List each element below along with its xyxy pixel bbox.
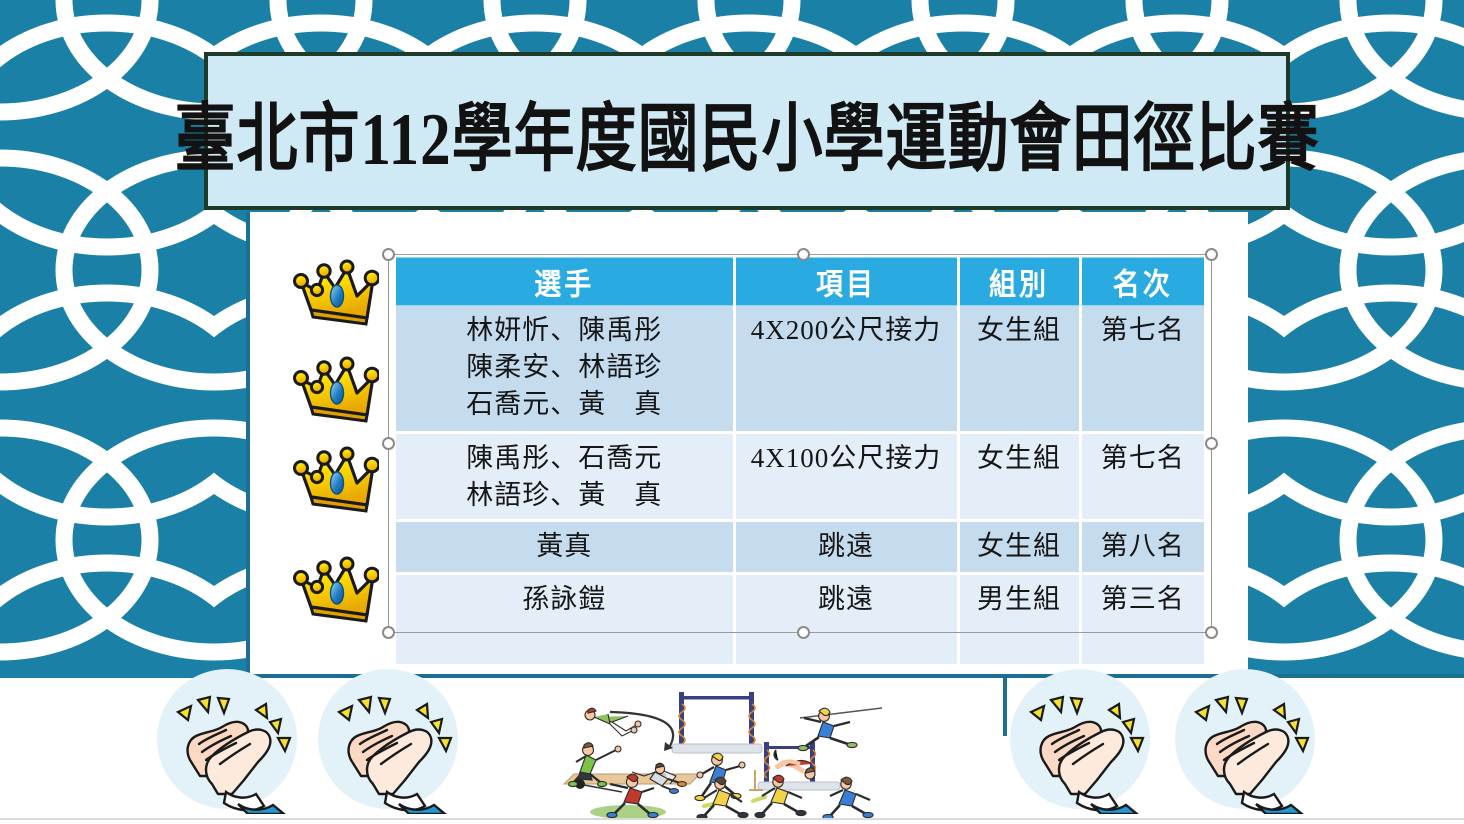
slide-canvas: 臺北市112學年度國民小學運動會田徑比賽 xyxy=(0,0,1464,824)
cell-rank[interactable]: 第七名 xyxy=(1080,432,1204,520)
page-title: 臺北市112學年度國民小學運動會田徑比賽 xyxy=(174,77,1319,186)
cell-event[interactable]: 4X200公尺接力 xyxy=(734,304,958,432)
athletics-clipart xyxy=(552,684,942,822)
resize-handle-bottom-left[interactable] xyxy=(382,626,395,639)
clapping-hands-icon xyxy=(1005,664,1155,814)
resize-handle-bottom-right[interactable] xyxy=(1205,626,1218,639)
column-header-rank[interactable]: 名次 xyxy=(1080,257,1204,306)
panel-left-rule xyxy=(246,212,250,677)
clapping-hands-icon xyxy=(1170,664,1320,814)
cell-athlete[interactable]: 孫詠鎧 xyxy=(396,573,734,664)
cell-group[interactable]: 女生組 xyxy=(958,432,1080,520)
cell-rank[interactable]: 第三名 xyxy=(1080,573,1204,664)
resize-handle-top-right[interactable] xyxy=(1205,248,1218,261)
cell-rank[interactable]: 第八名 xyxy=(1080,520,1204,573)
column-header-group[interactable]: 組別 xyxy=(958,257,1080,306)
crown-icon xyxy=(291,256,379,330)
crown-icon xyxy=(291,353,379,427)
crown-icon xyxy=(291,443,379,517)
cell-group[interactable]: 女生組 xyxy=(958,520,1080,573)
column-header-event[interactable]: 項目 xyxy=(734,257,958,306)
resize-handle-top-left[interactable] xyxy=(382,248,395,261)
table-row[interactable]: 陳禹彤、石喬元 林語珍、黃 真 4X100公尺接力 女生組 第七名 xyxy=(396,432,1204,520)
cell-athlete[interactable]: 黃真 xyxy=(396,520,734,573)
table-row[interactable]: 孫詠鎧 跳遠 男生組 第三名 xyxy=(396,573,1204,664)
resize-handle-top-center[interactable] xyxy=(797,248,810,261)
column-header-athlete[interactable]: 選手 xyxy=(396,257,734,306)
cell-athlete[interactable]: 林妍忻、陳禹彤 陳柔安、林語珍 石喬元、黃 真 xyxy=(396,304,734,432)
resize-handle-middle-left[interactable] xyxy=(382,437,395,450)
cell-event[interactable]: 跳遠 xyxy=(734,520,958,573)
cell-rank[interactable]: 第七名 xyxy=(1080,304,1204,432)
table-row[interactable]: 林妍忻、陳禹彤 陳柔安、林語珍 石喬元、黃 真 4X200公尺接力 女生組 第七… xyxy=(396,304,1204,432)
resize-handle-middle-right[interactable] xyxy=(1205,437,1218,450)
cell-athlete[interactable]: 陳禹彤、石喬元 林語珍、黃 真 xyxy=(396,432,734,520)
cell-group[interactable]: 女生組 xyxy=(958,304,1080,432)
table-row[interactable]: 黃真 跳遠 女生組 第八名 xyxy=(396,520,1204,573)
cell-event[interactable]: 跳遠 xyxy=(734,573,958,664)
clapping-hands-icon xyxy=(152,664,302,814)
cell-group[interactable]: 男生組 xyxy=(958,573,1080,664)
slide-title-box[interactable]: 臺北市112學年度國民小學運動會田徑比賽 xyxy=(204,52,1290,210)
results-table-container[interactable]: 選手 項目 組別 名次 林妍忻、陳禹彤 陳柔安、林語珍 石喬元、黃 真 4X20… xyxy=(396,260,1204,631)
results-table[interactable]: 選手 項目 組別 名次 林妍忻、陳禹彤 陳柔安、林語珍 石喬元、黃 真 4X20… xyxy=(396,260,1204,664)
cell-event[interactable]: 4X100公尺接力 xyxy=(734,432,958,520)
resize-handle-bottom-center[interactable] xyxy=(797,626,810,639)
table-header-row: 選手 項目 組別 名次 xyxy=(396,260,1204,304)
bottom-hairline xyxy=(0,818,1464,820)
clapping-hands-icon xyxy=(313,664,463,814)
crown-icon xyxy=(291,553,379,627)
